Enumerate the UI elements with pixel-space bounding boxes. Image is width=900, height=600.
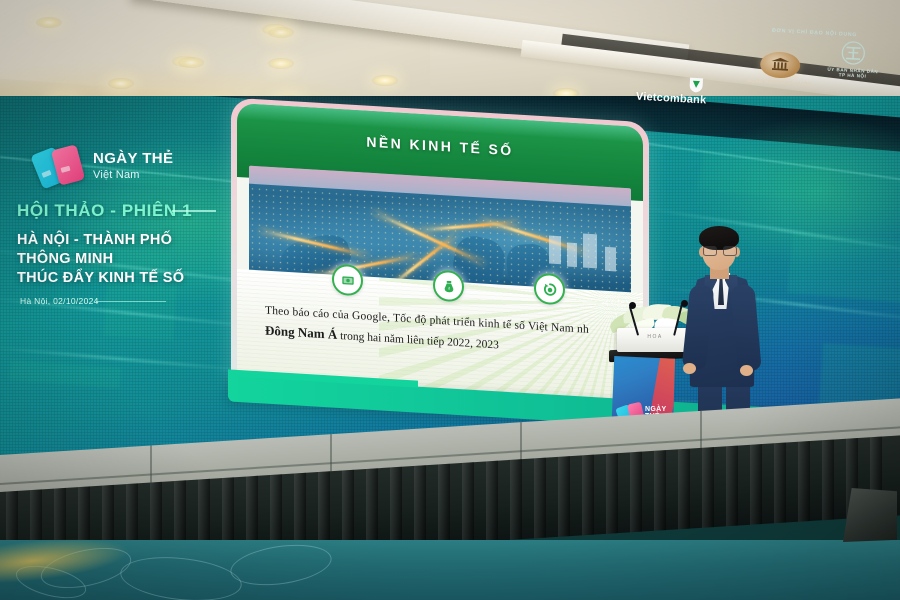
building	[583, 233, 597, 268]
sponsor-sbv: NGÂN HÀNG NHÀ NƯỚC	[747, 50, 813, 86]
microphone-icon[interactable]	[629, 302, 636, 309]
banner-subhead-line1: HÀ NỘI - THÀNH PHỐ THÔNG MINH	[17, 231, 212, 269]
banner-headline: HỘI THẢO - PHIÊN 1	[17, 201, 192, 221]
glasses-icon	[703, 246, 735, 254]
carpet	[0, 540, 900, 600]
vietcombank-logo: Vietcombank	[635, 80, 723, 115]
downlight-icon	[108, 78, 134, 89]
presentation-slide: NỀN KINH TẾ SỐ	[231, 98, 649, 415]
downlight-icon	[178, 57, 204, 68]
banner-logo: NGÀY THẺ Việt Nam	[30, 146, 180, 190]
lens-right	[723, 246, 737, 256]
banner-logo-line1: NGÀY THẺ	[93, 150, 173, 167]
building	[567, 243, 577, 268]
lens-left	[703, 246, 717, 256]
downlight-icon	[268, 27, 294, 38]
carpet-pattern	[118, 552, 244, 600]
state-bank-emblem-icon	[760, 51, 801, 79]
banner-date: Hà Nội, 02/10/2024	[20, 296, 99, 306]
slide-text-bold: Đông Nam Á	[265, 323, 337, 342]
hanoi-peoples-committee-icon	[833, 39, 874, 67]
vietcombank-shield-icon	[688, 77, 704, 94]
slide-content: NỀN KINH TẾ SỐ	[237, 103, 643, 409]
vietcombank-wordmark: Vietcombank	[636, 91, 707, 107]
banner-subhead-line2: THÚC ĐẨY KINH TẾ SỐ	[17, 269, 212, 288]
carpet-pattern	[228, 539, 334, 591]
banner-date-rule	[96, 301, 166, 302]
hand-left	[683, 363, 696, 374]
conference-photo: Vietcombank ĐƠN VỊ CHỈ ĐẠO NỘI DUNG NGÂN…	[0, 0, 900, 600]
svg-text:₫: ₫	[447, 285, 449, 290]
banner-logo-line2: Việt Nam	[93, 169, 140, 181]
hand-right	[740, 365, 753, 376]
building	[605, 247, 616, 272]
banner-rule	[172, 210, 216, 212]
event-banner: NGÀY THẺ Việt Nam HỘI THẢO - PHIÊN 1 HÀ …	[0, 128, 212, 340]
downlight-icon	[372, 75, 398, 86]
building	[549, 235, 561, 264]
downlight-icon	[268, 58, 294, 69]
downlight-icon	[36, 17, 62, 28]
banner-subhead: HÀ NỘI - THÀNH PHỐ THÔNG MINH THÚC ĐẨY K…	[17, 231, 212, 288]
glasses-bridge	[715, 249, 723, 250]
stage-monitor-speaker	[843, 488, 897, 542]
sponsor-hanoi: ỦY BAN NHÂN DÂN TP HÀ NỘI	[827, 39, 880, 80]
